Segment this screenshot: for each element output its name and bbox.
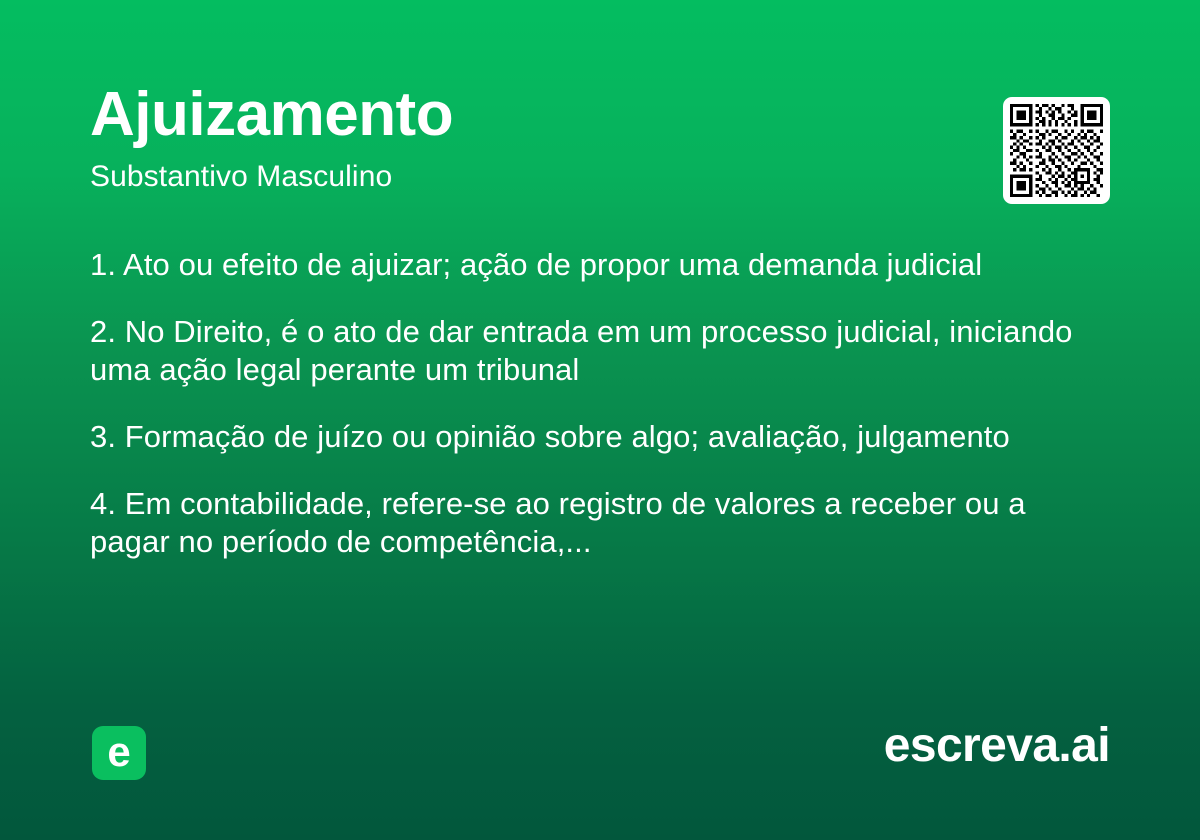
card-header: Ajuizamento Substantivo Masculino [90, 84, 970, 193]
page-title: Ajuizamento [90, 84, 970, 146]
word-class-label: Substantivo Masculino [90, 160, 970, 193]
logo-letter: e [107, 731, 130, 773]
qr-code-panel[interactable] [1003, 97, 1110, 204]
brand-logo-badge[interactable]: e [92, 726, 146, 780]
definition-item: 3. Formação de juízo ou opinião sobre al… [90, 418, 1105, 456]
definitions-list: 1. Ato ou efeito de ajuizar; ação de pro… [90, 246, 1105, 561]
qr-code-icon [1010, 104, 1103, 197]
definition-item: 2. No Direito, é o ato de dar entrada em… [90, 313, 1105, 389]
brand-wordmark: escreva.ai [884, 722, 1110, 770]
definition-item: 4. Em contabilidade, refere-se ao regist… [90, 485, 1105, 561]
dictionary-card: Ajuizamento Substantivo Masculino [0, 0, 1200, 840]
definition-item: 1. Ato ou efeito de ajuizar; ação de pro… [90, 246, 1105, 284]
